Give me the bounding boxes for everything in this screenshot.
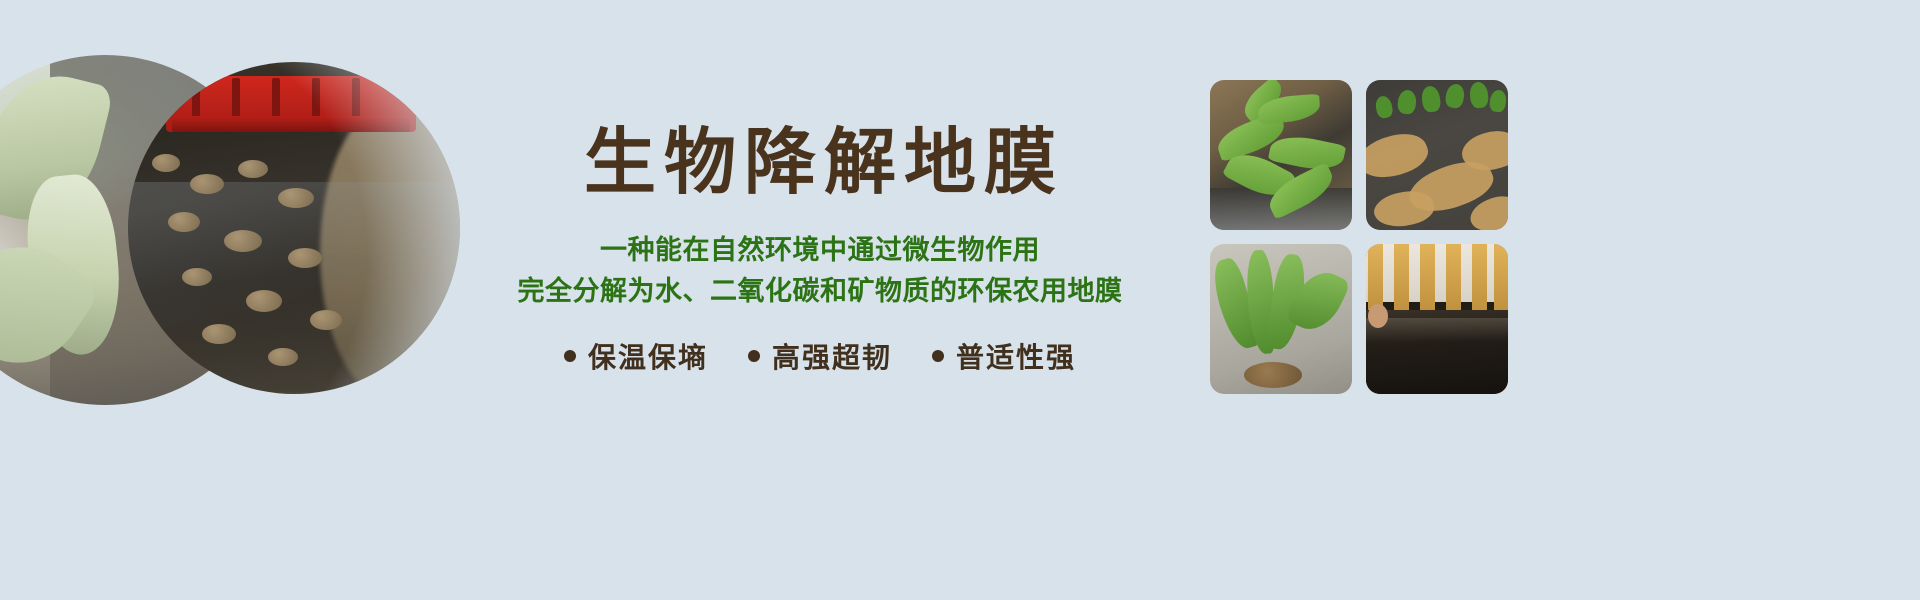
gallery-thumbnail-3[interactable] bbox=[1210, 244, 1352, 394]
feature-list: 保温保墒 高强超韧 普适性强 bbox=[564, 336, 1076, 376]
planting-hole bbox=[1244, 362, 1302, 388]
left-photo-cluster bbox=[0, 0, 520, 600]
subtitle-line-2: 完全分解为水、二氧化碳和矿物质的环保农用地膜 bbox=[518, 271, 1123, 312]
feature-label: 保温保墒 bbox=[588, 336, 708, 376]
feature-item-1: 保温保墒 bbox=[564, 336, 708, 376]
photo-circle-machine bbox=[128, 62, 460, 394]
bullet-dot-icon bbox=[932, 350, 944, 362]
gallery-thumbnail-2[interactable] bbox=[1366, 80, 1508, 230]
thumbnail-gallery bbox=[1210, 80, 1508, 394]
hero-text-block: 生物降解地膜 一种能在自然环境中通过微生物作用 完全分解为水、二氧化碳和矿物质的… bbox=[470, 0, 1170, 600]
gallery-thumbnail-4[interactable] bbox=[1366, 244, 1508, 394]
page-title: 生物降解地膜 bbox=[576, 124, 1064, 200]
hero-subtitle: 一种能在自然环境中通过微生物作用 完全分解为水、二氧化碳和矿物质的环保农用地膜 bbox=[518, 230, 1123, 312]
film-gloss bbox=[1366, 318, 1508, 342]
gallery-thumbnail-1[interactable] bbox=[1210, 80, 1352, 230]
feature-label: 高强超韧 bbox=[772, 336, 892, 376]
red-machine bbox=[166, 76, 416, 132]
bullet-dot-icon bbox=[564, 350, 576, 362]
feature-item-2: 高强超韧 bbox=[748, 336, 892, 376]
feature-item-3: 普适性强 bbox=[932, 336, 1076, 376]
subtitle-line-1: 一种能在自然环境中通过微生物作用 bbox=[518, 230, 1123, 271]
bullet-dot-icon bbox=[748, 350, 760, 362]
hand bbox=[1368, 304, 1388, 328]
hero-banner: 生物降解地膜 一种能在自然环境中通过微生物作用 完全分解为水、二氧化碳和矿物质的… bbox=[0, 0, 1920, 600]
feature-label: 普适性强 bbox=[956, 336, 1076, 376]
